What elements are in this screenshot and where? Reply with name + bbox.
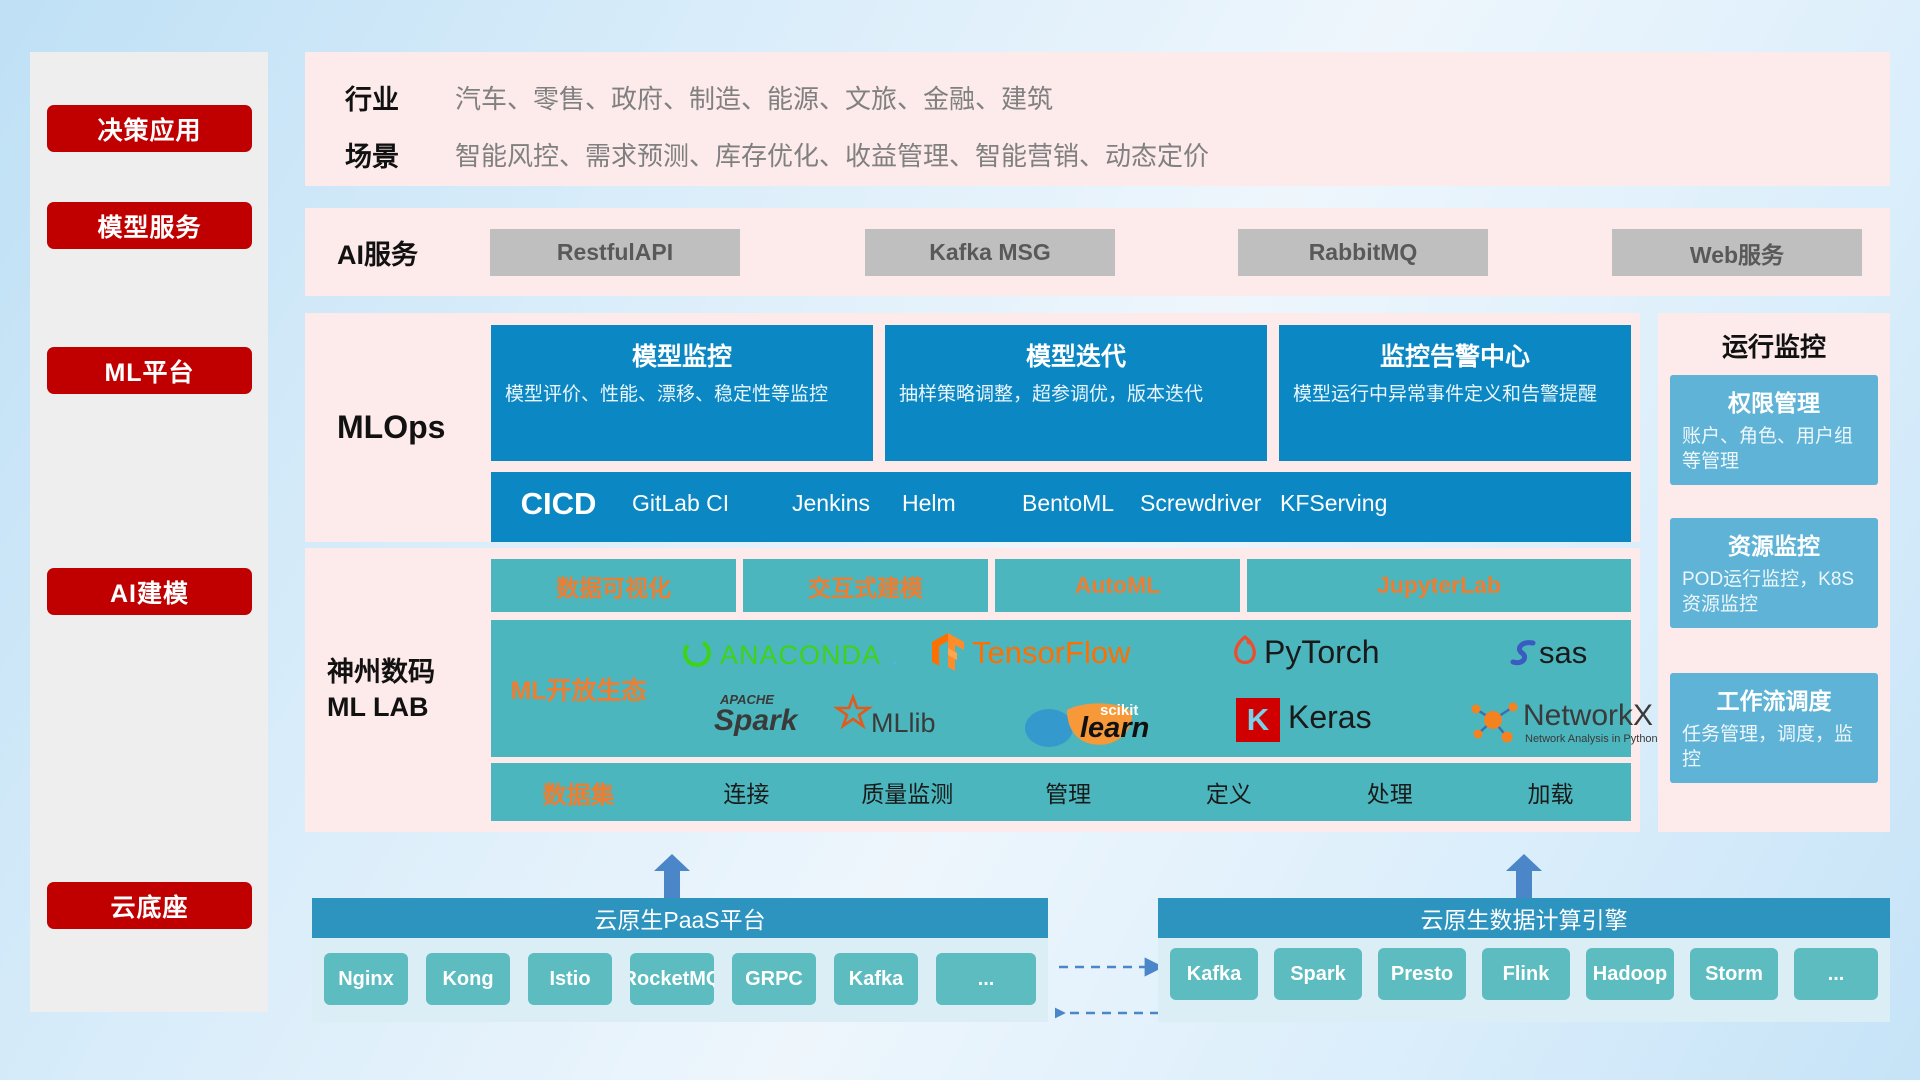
- paas-tag-rocketmq[interactable]: RocketMQ: [630, 953, 714, 1005]
- networkx-icon: [1469, 698, 1521, 749]
- tensorflow-icon: [930, 631, 966, 678]
- sas-label: sas: [1539, 635, 1587, 671]
- engine-up-arrow-icon: [1504, 854, 1544, 898]
- keras-badge-icon: K: [1236, 698, 1280, 742]
- mlops-label: MLOps: [337, 313, 487, 542]
- card-title: 监控告警中心: [1293, 337, 1617, 373]
- networkx-sublabel: Network Analysis in Python: [1525, 733, 1658, 745]
- keras-label: Keras: [1288, 699, 1372, 736]
- cicd-item-bentoml[interactable]: BentoML: [1016, 472, 1134, 518]
- card-title: 权限管理: [1682, 384, 1866, 418]
- scenario-label: 场景: [345, 135, 399, 174]
- card-desc: 账户、角色、用户组等管理: [1682, 424, 1866, 474]
- tensorflow-label: TensorFlow: [972, 635, 1131, 671]
- ai-service-item-webservice[interactable]: Web服务: [1612, 229, 1862, 276]
- architecture-diagram: 决策应用 模型服务 ML平台 AI建模 云底座 行业 汽车、零售、政府、制造、能…: [0, 0, 1920, 1080]
- sas-icon: [1509, 637, 1541, 674]
- cicd-item-helm[interactable]: Helm: [896, 472, 1016, 518]
- stage-rail: 决策应用 模型服务 ML平台 AI建模 云底座: [30, 52, 268, 1012]
- paas-tag-more[interactable]: ...: [936, 953, 1036, 1005]
- ai-service-label: AI服务: [337, 208, 418, 296]
- paas-platform-title: 云原生PaaS平台: [312, 898, 1048, 938]
- ml-ecosystem-bar: ML开放生态 ANACONDA .: [491, 620, 1631, 757]
- card-title: 资源监控: [1682, 527, 1866, 561]
- stage-chip-aimodeling[interactable]: AI建模: [47, 568, 252, 615]
- card-desc: 模型评价、性能、漂移、稳定性等监控: [505, 383, 859, 408]
- engine-tag-flink[interactable]: Flink: [1482, 948, 1570, 1000]
- runtime-monitor-panel: 运行监控 权限管理 账户、角色、用户组等管理 资源监控 POD运行监控，K8S资…: [1658, 313, 1890, 832]
- mllab-label: 神州数码 ML LAB: [327, 548, 487, 832]
- anaconda-dot: .: [891, 640, 899, 671]
- anaconda-icon: [680, 636, 714, 675]
- dataset-item-process[interactable]: 处理: [1309, 775, 1470, 809]
- card-desc: 抽样策略调整，超参调优，版本迭代: [899, 383, 1253, 408]
- paas-tag-grpc[interactable]: GRPC: [732, 953, 816, 1005]
- mllab-label-line1: 神州数码: [327, 657, 435, 687]
- mlops-card-model-iteration[interactable]: 模型迭代 抽样策略调整，超参调优，版本迭代: [885, 325, 1267, 461]
- ai-service-item-restfulapi[interactable]: RestfulAPI: [490, 229, 740, 276]
- cicd-item-kfserving[interactable]: KFServing: [1274, 472, 1394, 518]
- stage-chip-decision[interactable]: 决策应用: [47, 105, 252, 152]
- spark-icon: [833, 692, 873, 737]
- paas-up-arrow-icon: [652, 854, 692, 898]
- mllib-label: MLlib: [871, 708, 936, 739]
- mllab-label-line2: ML LAB: [327, 692, 429, 722]
- paas-tag-istio[interactable]: Istio: [528, 953, 612, 1005]
- engine-tag-kafka[interactable]: Kafka: [1170, 948, 1258, 1000]
- monitor-card-resource[interactable]: 资源监控 POD运行监控，K8S资源监控: [1670, 518, 1878, 628]
- mlops-card-alert-center[interactable]: 监控告警中心 模型运行中异常事件定义和告警提醒: [1279, 325, 1631, 461]
- card-desc: 任务管理，调度，监控: [1682, 722, 1866, 772]
- eco-logo-group: ANACONDA . TensorFlow: [666, 620, 1631, 757]
- mlops-panel: MLOps 模型监控 模型评价、性能、漂移、稳定性等监控 模型迭代 抽样策略调整…: [305, 313, 1640, 542]
- dataset-item-load[interactable]: 加载: [1470, 775, 1631, 809]
- cicd-item-jenkins[interactable]: Jenkins: [786, 472, 896, 518]
- monitor-card-permission[interactable]: 权限管理 账户、角色、用户组等管理: [1670, 375, 1878, 485]
- industry-label: 行业: [345, 78, 399, 117]
- dataset-item-manage[interactable]: 管理: [988, 775, 1149, 809]
- cicd-item-gitlabci[interactable]: GitLab CI: [626, 472, 786, 518]
- engine-tag-spark[interactable]: Spark: [1274, 948, 1362, 1000]
- paas-tag-nginx[interactable]: Nginx: [324, 953, 408, 1005]
- monitor-card-workflow[interactable]: 工作流调度 任务管理，调度，监控: [1670, 673, 1878, 783]
- engine-tag-storm[interactable]: Storm: [1690, 948, 1778, 1000]
- card-title: 工作流调度: [1682, 682, 1866, 716]
- eco-label: ML开放生态: [491, 671, 666, 707]
- dataset-bar: 数据集 连接 质量监测 管理 定义 处理 加载: [491, 763, 1631, 821]
- card-title: 模型迭代: [899, 337, 1253, 373]
- card-desc: POD运行监控，K8S资源监控: [1682, 567, 1866, 617]
- tool-data-visualization[interactable]: 数据可视化: [491, 559, 736, 612]
- scenario-list: 智能风控、需求预测、库存优化、收益管理、智能营销、动态定价: [455, 136, 1209, 173]
- spark-label: Spark: [714, 704, 797, 738]
- engine-tag-hadoop[interactable]: Hadoop: [1586, 948, 1674, 1000]
- card-title: 模型监控: [505, 337, 859, 373]
- cicd-bar: CICD GitLab CI Jenkins Helm BentoML Scre…: [491, 472, 1631, 542]
- stage-chip-modelserve[interactable]: 模型服务: [47, 202, 252, 249]
- data-engine-panel: 云原生数据计算引擎 Kafka Spark Presto Flink Hadoo…: [1158, 898, 1890, 1022]
- paas-tag-kong[interactable]: Kong: [426, 953, 510, 1005]
- dataset-item-quality[interactable]: 质量监测: [827, 775, 988, 809]
- cicd-label: CICD: [491, 472, 626, 522]
- card-desc: 模型运行中异常事件定义和告警提醒: [1293, 383, 1617, 408]
- runtime-monitor-title: 运行监控: [1658, 327, 1890, 364]
- cicd-item-screwdriver[interactable]: Screwdriver: [1134, 472, 1274, 518]
- dataset-item-define[interactable]: 定义: [1148, 775, 1309, 809]
- engine-tag-more[interactable]: ...: [1794, 948, 1878, 1000]
- ai-service-panel: AI服务 RestfulAPI Kafka MSG RabbitMQ Web服务: [305, 208, 1890, 296]
- engine-tag-presto[interactable]: Presto: [1378, 948, 1466, 1000]
- dataset-label: 数据集: [491, 775, 666, 810]
- ai-service-item-rabbitmq[interactable]: RabbitMQ: [1238, 229, 1488, 276]
- paas-tag-kafka[interactable]: Kafka: [834, 953, 918, 1005]
- stage-chip-cloudbase[interactable]: 云底座: [47, 882, 252, 929]
- stage-chip-mlplatform[interactable]: ML平台: [47, 347, 252, 394]
- paas-platform-panel: 云原生PaaS平台 Nginx Kong Istio RocketMQ GRPC…: [312, 898, 1048, 1022]
- learn-label: learn: [1080, 712, 1149, 745]
- dataset-item-connect[interactable]: 连接: [666, 775, 827, 809]
- industry-list: 汽车、零售、政府、制造、能源、文旅、金融、建筑: [455, 79, 1053, 116]
- pytorch-label: PyTorch: [1264, 634, 1380, 671]
- pytorch-icon: [1230, 633, 1260, 674]
- industry-scenario-panel: 行业 汽车、零售、政府、制造、能源、文旅、金融、建筑 场景 智能风控、需求预测、…: [305, 52, 1890, 186]
- tool-jupyterlab[interactable]: JupyterLab: [1247, 559, 1631, 612]
- tool-interactive-modeling[interactable]: 交互式建模: [743, 559, 988, 612]
- networkx-label: NetworkX: [1523, 699, 1653, 733]
- data-engine-title: 云原生数据计算引擎: [1158, 898, 1890, 938]
- paas-engine-link-icon: [1055, 955, 1175, 1035]
- mlops-card-model-monitoring[interactable]: 模型监控 模型评价、性能、漂移、稳定性等监控: [491, 325, 873, 461]
- ai-modeling-panel: 神州数码 ML LAB 数据可视化 交互式建模 AutoML JupyterLa…: [305, 548, 1640, 832]
- tool-automl[interactable]: AutoML: [995, 559, 1240, 612]
- ai-service-item-kafkamsg[interactable]: Kafka MSG: [865, 229, 1115, 276]
- anaconda-label: ANACONDA: [720, 640, 881, 671]
